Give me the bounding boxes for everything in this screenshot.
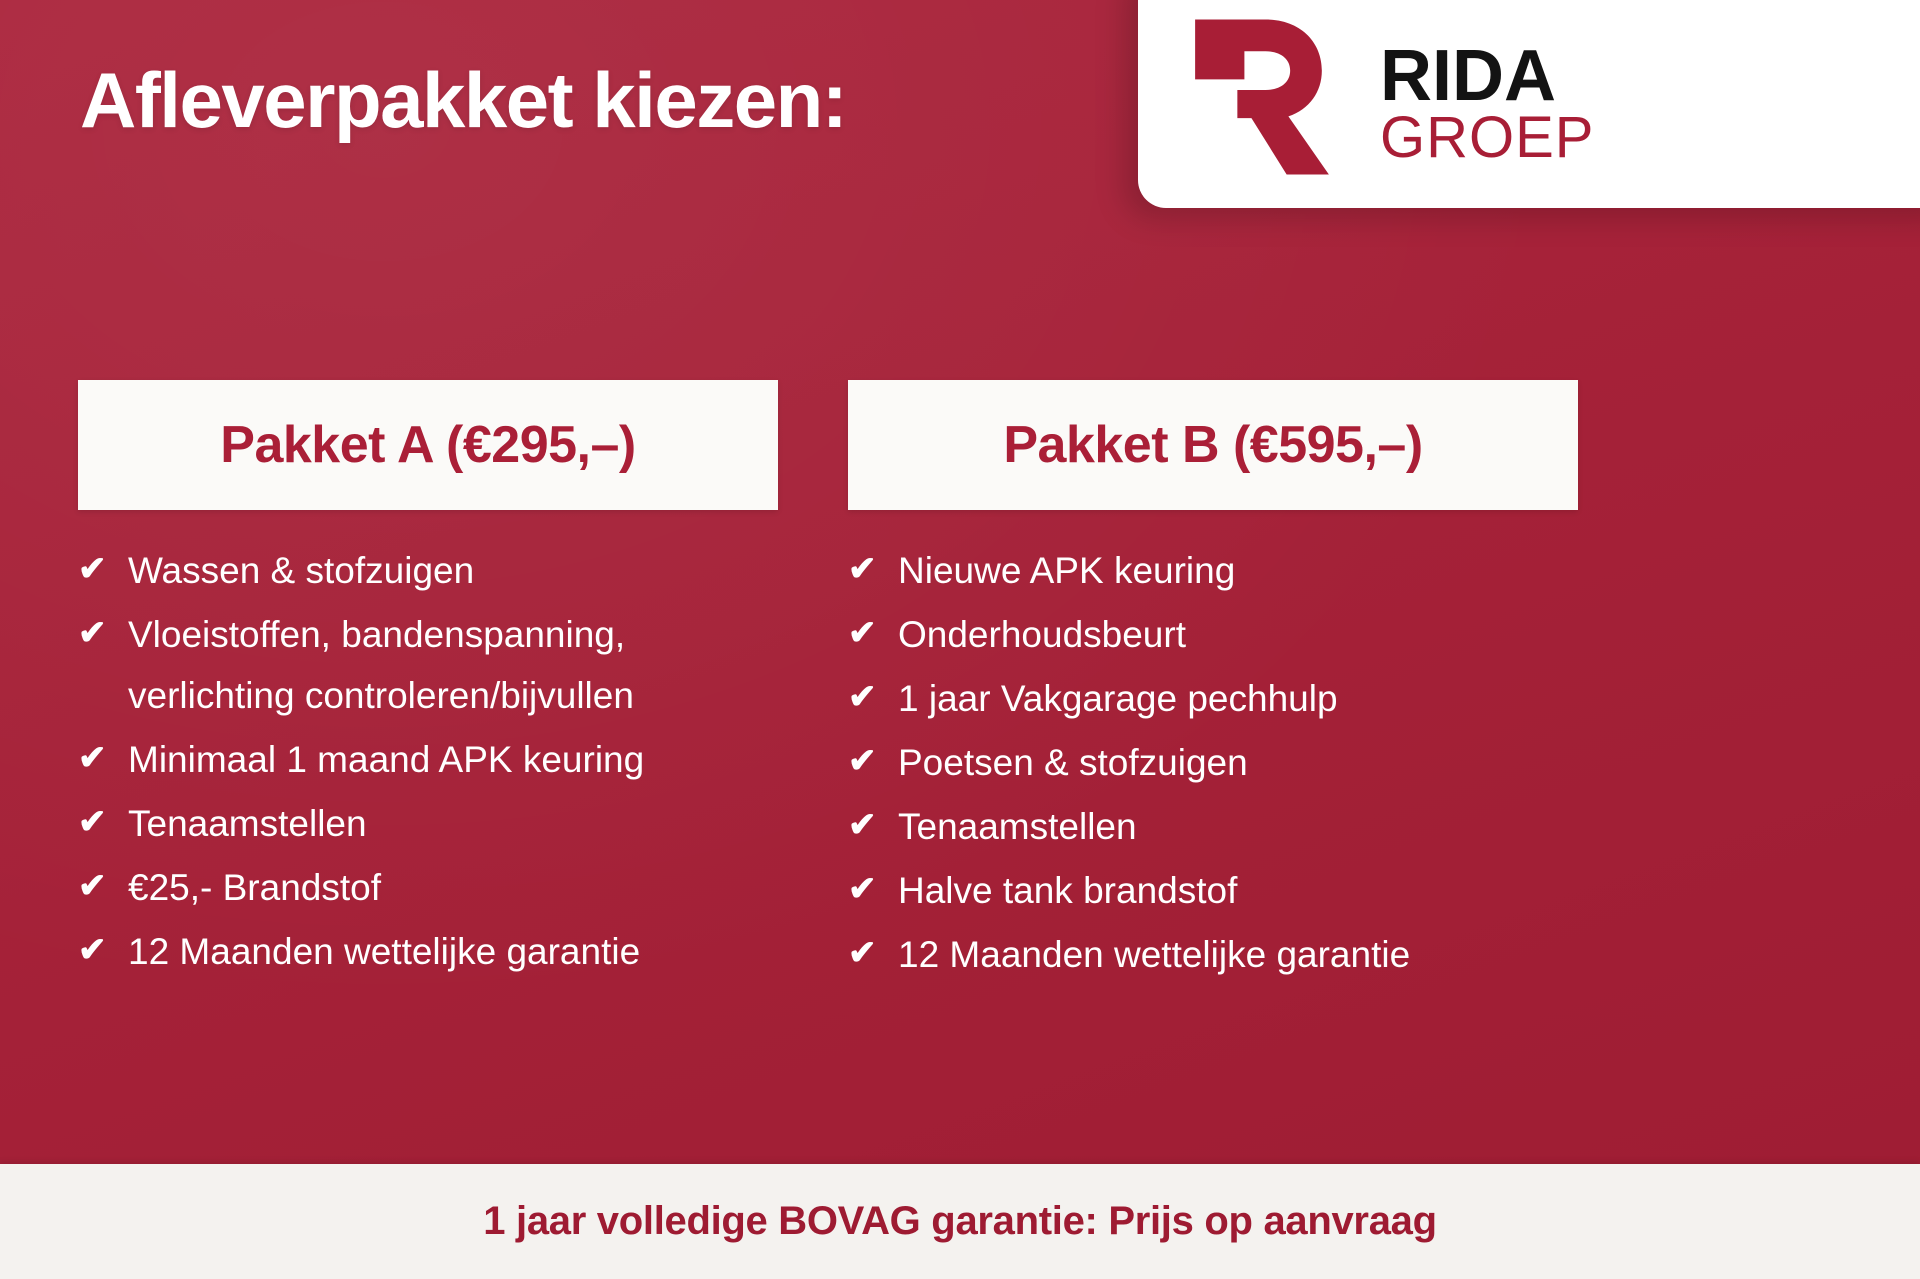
list-item: ✔ Nieuwe APK keuring xyxy=(848,540,1578,601)
package-columns: Pakket A (€295,–) ✔ Wassen & stofzuigen … xyxy=(0,380,1920,988)
list-item: ✔ 12 Maanden wettelijke garantie xyxy=(848,924,1578,985)
list-item: ✔ 12 Maanden wettelijke garantie xyxy=(78,921,778,982)
brand-name-secondary: GROEP xyxy=(1380,112,1595,163)
list-item: ✔ Halve tank brandstof xyxy=(848,860,1578,921)
check-icon: ✔ xyxy=(848,732,898,792)
package-card-a[interactable]: Pakket A (€295,–) ✔ Wassen & stofzuigen … xyxy=(78,380,778,988)
check-icon: ✔ xyxy=(848,860,898,920)
feature-label: Halve tank brandstof xyxy=(898,860,1237,921)
package-card-b[interactable]: Pakket B (€595,–) ✔ Nieuwe APK keuring ✔… xyxy=(848,380,1578,988)
feature-label: Poetsen & stofzuigen xyxy=(898,732,1248,793)
package-b-title: Pakket B (€595,–) xyxy=(1003,415,1422,475)
check-icon: ✔ xyxy=(848,668,898,728)
list-item: ✔ Vloeistoffen, bandenspanning, verlicht… xyxy=(78,604,778,726)
feature-label: Onderhoudsbeurt xyxy=(898,604,1186,665)
package-a-feature-list: ✔ Wassen & stofzuigen ✔ Vloeistoffen, ba… xyxy=(78,540,778,982)
feature-label: €25,- Brandstof xyxy=(128,857,381,918)
page-title: Afleverpakket kiezen: xyxy=(80,60,846,142)
check-icon: ✔ xyxy=(848,540,898,600)
list-item: ✔ 1 jaar Vakgarage pechhulp xyxy=(848,668,1578,729)
check-icon: ✔ xyxy=(78,857,128,917)
bottom-banner: 1 jaar volledige BOVAG garantie: Prijs o… xyxy=(0,1164,1920,1279)
package-a-title: Pakket A (€295,–) xyxy=(220,415,635,475)
feature-label: Nieuwe APK keuring xyxy=(898,540,1235,601)
check-icon: ✔ xyxy=(78,604,128,664)
feature-label: Vloeistoffen, bandenspanning, verlichtin… xyxy=(128,604,748,726)
package-b-feature-list: ✔ Nieuwe APK keuring ✔ Onderhoudsbeurt ✔… xyxy=(848,540,1578,985)
check-icon: ✔ xyxy=(848,796,898,856)
rida-r-mark-icon xyxy=(1174,9,1350,185)
brand-wordmark: RIDA GROEP xyxy=(1380,45,1595,163)
feature-label: Wassen & stofzuigen xyxy=(128,540,474,601)
feature-label: Tenaamstellen xyxy=(128,793,367,854)
check-icon: ✔ xyxy=(848,604,898,664)
feature-label: 12 Maanden wettelijke garantie xyxy=(898,924,1410,985)
list-item: ✔ Poetsen & stofzuigen xyxy=(848,732,1578,793)
list-item: ✔ Tenaamstellen xyxy=(848,796,1578,857)
check-icon: ✔ xyxy=(78,540,128,600)
feature-label: Minimaal 1 maand APK keuring xyxy=(128,729,644,790)
check-icon: ✔ xyxy=(848,924,898,984)
list-item: ✔ Onderhoudsbeurt xyxy=(848,604,1578,665)
brand-logo-plate: RIDA GROEP xyxy=(1138,0,1920,208)
list-item: ✔ Minimaal 1 maand APK keuring xyxy=(78,729,778,790)
package-a-header: Pakket A (€295,–) xyxy=(78,380,778,510)
check-icon: ✔ xyxy=(78,921,128,981)
package-b-header: Pakket B (€595,–) xyxy=(848,380,1578,510)
list-item: ✔ Tenaamstellen xyxy=(78,793,778,854)
list-item: ✔ €25,- Brandstof xyxy=(78,857,778,918)
afleverpakket-poster: Afleverpakket kiezen: RIDA GROEP Pakket … xyxy=(0,0,1920,1279)
poster-header: Afleverpakket kiezen: RIDA GROEP xyxy=(0,0,1920,250)
bovag-guarantee-text: 1 jaar volledige BOVAG garantie: Prijs o… xyxy=(483,1199,1436,1244)
feature-label: Tenaamstellen xyxy=(898,796,1137,857)
brand-name-primary: RIDA xyxy=(1380,45,1595,108)
list-item: ✔ Wassen & stofzuigen xyxy=(78,540,778,601)
feature-label: 12 Maanden wettelijke garantie xyxy=(128,921,640,982)
feature-label: 1 jaar Vakgarage pechhulp xyxy=(898,668,1338,729)
check-icon: ✔ xyxy=(78,793,128,853)
check-icon: ✔ xyxy=(78,729,128,789)
